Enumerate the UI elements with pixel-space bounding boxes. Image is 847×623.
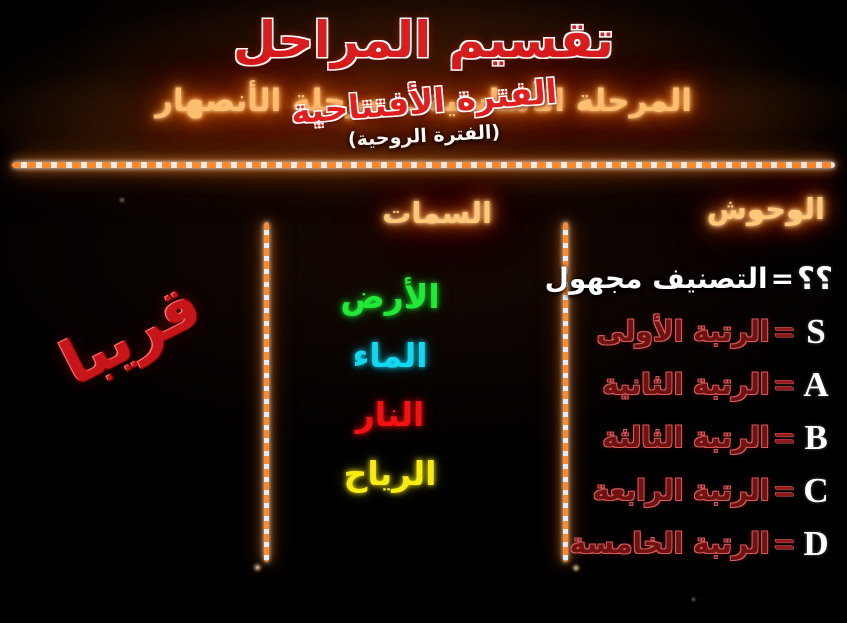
rank-letter: D [799, 524, 833, 564]
table-row: A = الرتبة الثانية [523, 358, 833, 411]
traits-column-heading: السمات [382, 196, 492, 230]
monsters-column-heading: الوحوش [707, 192, 825, 226]
equals-sign: = [773, 474, 796, 507]
equals-sign: = [773, 368, 796, 401]
table-row: B = الرتبة الثالثة [523, 411, 833, 464]
table-row: S = الرتبة الأولى [523, 305, 833, 358]
foreground-subtitle: الفترة الأفتتاحية [289, 72, 558, 132]
table-row: C = الرتبة الرابعة [523, 464, 833, 517]
table-row: ؟؟ = التصنيف مجهول [523, 252, 833, 305]
rank-label: الرتبة الثالثة [602, 421, 769, 454]
sparkle-mote [690, 596, 697, 603]
list-item: الماء [290, 339, 490, 372]
rank-label: الرتبة الرابعة [593, 474, 770, 507]
equals-sign: = [773, 315, 796, 348]
rank-label: الرتبة الأولى [597, 315, 770, 348]
rank-label: الرتبة الخامسة [570, 527, 770, 560]
equals-sign: = [773, 527, 796, 560]
rank-letter: C [799, 471, 833, 511]
rank-letter: A [799, 365, 833, 405]
page-title: تقسيم المراحل [0, 14, 847, 67]
list-item: الرياح [290, 457, 490, 490]
list-item: الأرض [290, 280, 490, 313]
traits-list: الأرض الماء النار الرياح [290, 280, 490, 490]
header-block: تقسيم المراحل المرحلة الأساسية ــ مرحلة … [0, 0, 847, 165]
table-row: D = الرتبة الخامسة [523, 517, 833, 570]
rank-label: التصنيف مجهول [545, 262, 768, 295]
horizontal-divider [12, 162, 835, 168]
rank-letter: S [799, 312, 833, 352]
equals-sign: = [771, 262, 794, 295]
coming-soon-label: قريبا [50, 271, 212, 400]
parenthetical-subtitle: (الفترة الروحية) [347, 121, 500, 151]
rank-letter: ؟؟ [797, 261, 833, 297]
equals-sign: = [773, 421, 796, 454]
monsters-rank-list: ؟؟ = التصنيف مجهول S = الرتبة الأولى A =… [523, 252, 833, 570]
rank-label: الرتبة الثانية [602, 368, 769, 401]
list-item: النار [290, 398, 490, 431]
rank-letter: B [799, 418, 833, 458]
sparkle-mote [118, 196, 126, 204]
sparkle-mote [252, 562, 263, 573]
poster-canvas: تقسيم المراحل المرحلة الأساسية ــ مرحلة … [0, 0, 847, 623]
vertical-divider-left [264, 222, 269, 562]
